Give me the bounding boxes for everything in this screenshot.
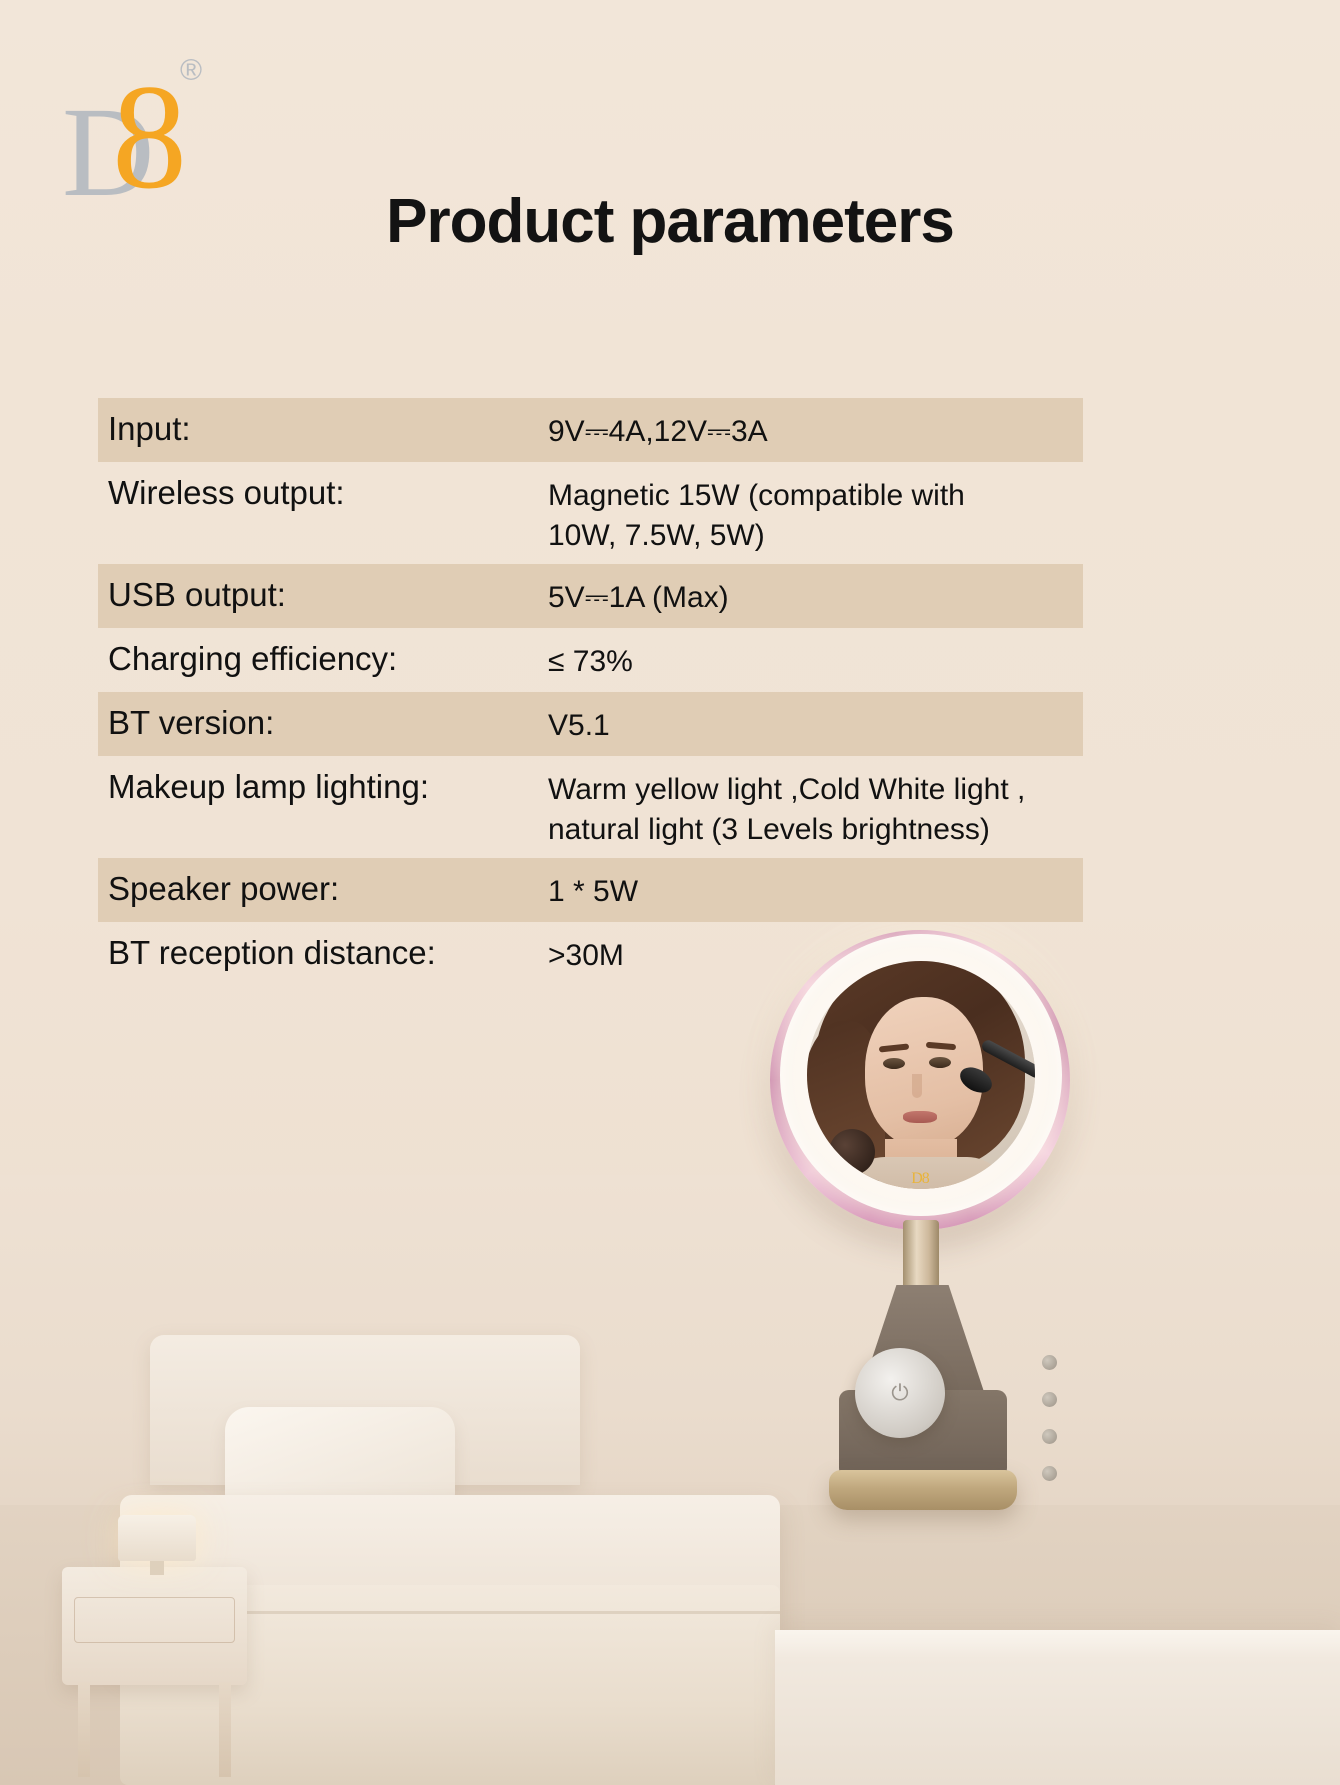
registered-trademark-icon: ® <box>180 54 202 88</box>
spec-label: Makeup lamp lighting: <box>108 763 548 807</box>
spec-label: BT reception distance: <box>108 929 548 973</box>
table-row: Makeup lamp lighting: Warm yellow light … <box>98 756 1083 858</box>
table-lamp-base <box>150 1561 164 1575</box>
brand-logo-d8: D 8 ® <box>62 40 292 190</box>
spec-value: 5V⎓1A (Max) <box>548 571 1083 618</box>
table-lamp-icon <box>118 1515 196 1561</box>
table-row: Charging efficiency: ≤ 73% <box>98 628 1083 692</box>
product-image-led-makeup-mirror: D8 <box>755 930 1085 1550</box>
mirror-glass <box>807 961 1035 1189</box>
control-button-2[interactable] <box>1042 1392 1057 1407</box>
product-logo-d8: D8 <box>911 1170 929 1188</box>
spec-value: 9V⎓4A,12V⎓3A <box>548 405 1083 452</box>
spec-value: Magnetic 15W (compatible with 10W, 7.5W,… <box>548 469 1083 555</box>
spec-label: USB output: <box>108 571 548 615</box>
table-row: Speaker power: 1 * 5W <box>98 858 1083 922</box>
spec-label: BT version: <box>108 699 548 743</box>
model-eye-left <box>883 1058 905 1069</box>
nightstand-drawer <box>74 1597 235 1643</box>
model-eye-right <box>929 1057 951 1068</box>
model-mouth <box>903 1111 937 1123</box>
control-button-3[interactable] <box>1042 1429 1057 1444</box>
spec-value: ≤ 73% <box>548 635 1083 682</box>
spec-value: >30M <box>548 929 1083 976</box>
table-row: BT version: V5.1 <box>98 692 1083 756</box>
spec-label: Charging efficiency: <box>108 635 548 679</box>
table-row: USB output: 5V⎓1A (Max) <box>98 564 1083 628</box>
control-button-4[interactable] <box>1042 1466 1057 1481</box>
model-nose <box>912 1074 922 1098</box>
nightstand-leg-right <box>219 1682 231 1777</box>
power-knob-button[interactable] <box>855 1348 945 1438</box>
spec-table: Input: 9V⎓4A,12V⎓3A Wireless output: Mag… <box>98 398 1083 986</box>
spec-label: Wireless output: <box>108 469 548 513</box>
compact-powder <box>829 1129 875 1175</box>
page-title: Product parameters <box>0 186 1340 257</box>
spec-value: 1 * 5W <box>548 865 1083 912</box>
nightstand-leg-left <box>78 1682 90 1777</box>
spec-value: Warm yellow light ,Cold White light , na… <box>548 763 1083 849</box>
spec-value: V5.1 <box>548 699 1083 746</box>
nightstand <box>62 1567 247 1685</box>
product-gold-base <box>829 1470 1017 1510</box>
product-parameters-page: D8 D 8 ® Product parameters Input: 9V⎓4A… <box>0 0 1340 1785</box>
spec-label: Input: <box>108 405 548 449</box>
bedroom-scene-photo <box>0 1175 1340 1785</box>
table-row: Wireless output: Magnetic 15W (compatibl… <box>98 462 1083 564</box>
table-row: BT reception distance: >30M <box>98 922 1083 986</box>
control-button-1[interactable] <box>1042 1355 1057 1370</box>
desk-surface <box>775 1630 1340 1785</box>
table-row: Input: 9V⎓4A,12V⎓3A <box>98 398 1083 462</box>
spec-label: Speaker power: <box>108 865 548 909</box>
